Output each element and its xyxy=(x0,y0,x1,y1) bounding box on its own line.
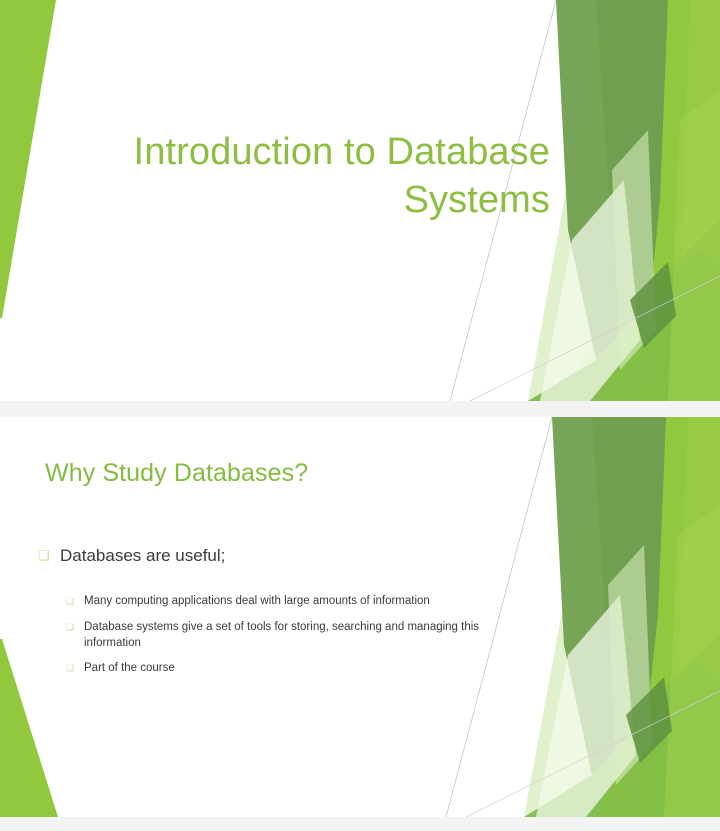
slide-1-content: Introduction to Database Systems xyxy=(0,0,720,401)
slide-viewer: Introduction to Database Systems xyxy=(0,0,720,831)
list-item-label: Many computing applications deal with la… xyxy=(84,593,430,609)
slide-gap-bottom xyxy=(0,817,720,831)
list-item-label: Database systems give a set of tools for… xyxy=(84,619,504,651)
slide-2-body-placeholder[interactable]: ❑ Databases are useful; ❑ Many computing… xyxy=(38,545,518,686)
bullet-marker-icon: ❑ xyxy=(66,619,84,636)
slide-2-content: Why Study Databases? ❑ Databases are use… xyxy=(0,417,720,817)
slide-2[interactable]: Why Study Databases? ❑ Databases are use… xyxy=(0,417,720,817)
slide-2-heading[interactable]: Why Study Databases? xyxy=(45,457,308,489)
list-item-label: Databases are useful; xyxy=(60,545,225,567)
bullet-marker-icon: ❑ xyxy=(66,660,84,677)
sub-list: ❑ Many computing applications deal with … xyxy=(66,593,518,677)
list-item-label: Part of the course xyxy=(84,660,175,676)
list-item[interactable]: ❑ Database systems give a set of tools f… xyxy=(66,619,518,651)
list-item[interactable]: ❑ Databases are useful; xyxy=(38,545,518,567)
list-item[interactable]: ❑ Many computing applications deal with … xyxy=(66,593,518,610)
list-item[interactable]: ❑ Part of the course xyxy=(66,660,518,677)
bullet-marker-icon: ❑ xyxy=(66,593,84,610)
slide-1[interactable]: Introduction to Database Systems xyxy=(0,0,720,401)
slide-1-title-placeholder[interactable]: Introduction to Database Systems xyxy=(70,128,550,224)
presentation-title: Introduction to Database Systems xyxy=(70,128,550,224)
slide-gap-top xyxy=(0,401,720,417)
bullet-marker-icon: ❑ xyxy=(38,545,60,567)
